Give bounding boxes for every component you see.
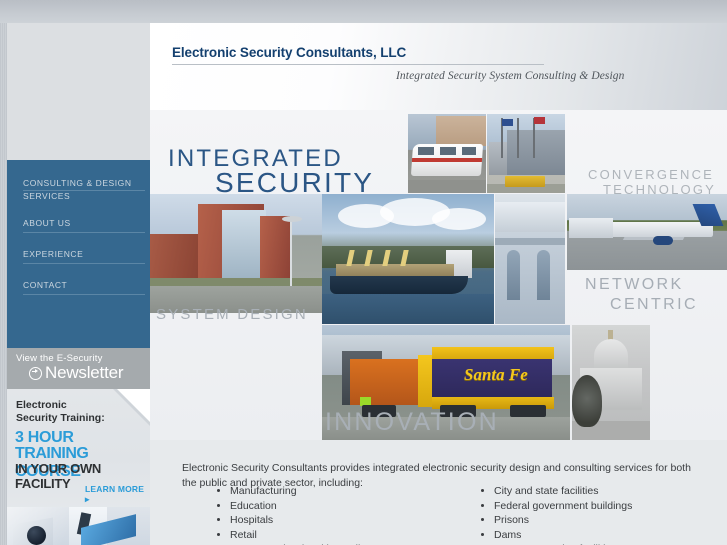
building-shape (150, 234, 198, 278)
sector-list-left: ManufacturingEducationHospitalsRetailTra… (216, 484, 480, 545)
jet-bridge-shape (569, 218, 613, 238)
header-divider (172, 64, 544, 65)
tram-stripe-shape (412, 158, 482, 162)
training-ad-banner[interactable]: Electronic Security Training: 3 HOUR TRA… (7, 389, 150, 545)
list-item: Dams (494, 528, 727, 543)
sidebar-item-label: CONTACT (23, 280, 67, 290)
tram-window-shape (462, 147, 476, 155)
water-shape (322, 294, 494, 324)
ship-hull-shape (330, 276, 468, 294)
newsletter-link-label: Newsletter (45, 363, 123, 383)
main-navigation: CONSULTING & DESIGN SERVICES ABOUT US EX… (7, 160, 150, 348)
spillway-gate-shape (507, 250, 520, 300)
learn-more-link[interactable]: LEARN MORE ▸ (85, 484, 150, 505)
sidebar-item-label: ABOUT US (23, 218, 71, 228)
monument-sign-shape (505, 176, 545, 187)
list-item: Education (230, 499, 480, 514)
photo-state-capitol (572, 325, 650, 440)
sidebar-item-about-us[interactable]: ABOUT US (23, 218, 145, 233)
hero-photo-collage: Santa Fe INTEGRATED SECURITY CONVERGENCE… (150, 110, 727, 440)
ground-shape (408, 180, 486, 193)
list-item: Federal government buildings (494, 499, 727, 514)
header-tagline: Integrated Security System Consulting & … (396, 70, 625, 82)
fuselage-shape (601, 222, 713, 237)
page-title: Electronic Security Consultants, LLC (172, 45, 406, 60)
dam-beam-shape (495, 238, 565, 245)
hero-word-convergence: CONVERGENCE (588, 167, 714, 182)
camera-lens-shape (27, 526, 46, 545)
flag-shape (534, 117, 545, 124)
list-item: Retail (230, 528, 480, 543)
bogie-shape (510, 405, 546, 417)
sector-list-right: City and state facilitiesFederal governm… (480, 484, 727, 545)
hero-word-security: SECURITY (215, 167, 374, 199)
building-shape (260, 216, 290, 278)
hero-word-centric: CENTRIC (610, 296, 698, 314)
locomotive-roof-shape (432, 347, 554, 359)
tree-shape (572, 375, 602, 427)
photo-campus-buildings (150, 194, 322, 313)
flagpole-shape (533, 118, 535, 158)
sidebar-item-contact[interactable]: CONTACT (23, 280, 145, 295)
hero-word-technology: TECHNOLOGY (603, 182, 716, 197)
dam-structure-shape (495, 202, 565, 232)
building-shape (436, 116, 486, 146)
left-column: CONSULTING & DESIGN SERVICES ABOUT US EX… (7, 23, 150, 545)
engine-shape (653, 236, 673, 245)
list-item: Manufacturing (230, 484, 480, 499)
ad-product-photo (7, 507, 150, 545)
sidebar-item-label-line2: SERVICES (23, 191, 145, 203)
photo-cargo-ship (322, 194, 494, 324)
photo-hydro-dam (495, 194, 565, 324)
intro-content: Electronic Security Consultants provides… (150, 440, 727, 545)
sidebar-item-experience[interactable]: EXPERIENCE (23, 249, 145, 264)
page-container: CONSULTING & DESIGN SERVICES ABOUT US EX… (7, 23, 727, 545)
newsletter-promo[interactable]: View the E-Security Newsletter (7, 348, 150, 389)
sidebar-item-consulting-design-services[interactable]: CONSULTING & DESIGN SERVICES (23, 178, 145, 204)
flagpole-shape (517, 118, 519, 158)
page-fold-icon (117, 389, 150, 422)
capitol-dome-shape (594, 339, 628, 369)
photo-civic-building (487, 114, 565, 193)
spillway-gate-shape (537, 250, 550, 300)
sidebar-item-label: EXPERIENCE (23, 249, 83, 259)
cloud-shape (432, 208, 486, 230)
main-column: Electronic Security Consultants, LLC Int… (150, 23, 727, 545)
lamp-head-shape (282, 216, 302, 222)
sidebar-top-spacer (7, 23, 150, 160)
tram-window-shape (418, 147, 434, 155)
hero-word-network: NETWORK (585, 276, 684, 294)
list-item: City and state facilities (494, 484, 727, 499)
tram-window-shape (440, 147, 456, 155)
flag-shape (502, 119, 513, 126)
building-shape (489, 142, 509, 175)
photo-light-rail-train (408, 114, 486, 193)
lamppost-shape (290, 220, 292, 286)
ad-heading: Electronic Security Training: (16, 399, 111, 425)
sidebar-item-label: CONSULTING & DESIGN (23, 178, 145, 191)
hero-word-innovation: INNOVATION (325, 408, 499, 437)
building-shape (507, 130, 565, 175)
site-header: Electronic Security Consultants, LLC Int… (150, 23, 727, 110)
top-strip (0, 0, 727, 23)
santa-fe-logo: Santa Fe (464, 365, 528, 385)
newsletter-link[interactable]: Newsletter (29, 363, 123, 383)
list-item: Prisons (494, 513, 727, 528)
photo-airport-jet (567, 194, 727, 270)
arrow-circle-icon (29, 367, 42, 380)
list-item: Hospitals (230, 513, 480, 528)
hero-word-system-design: SYSTEM DESIGN (156, 306, 308, 323)
